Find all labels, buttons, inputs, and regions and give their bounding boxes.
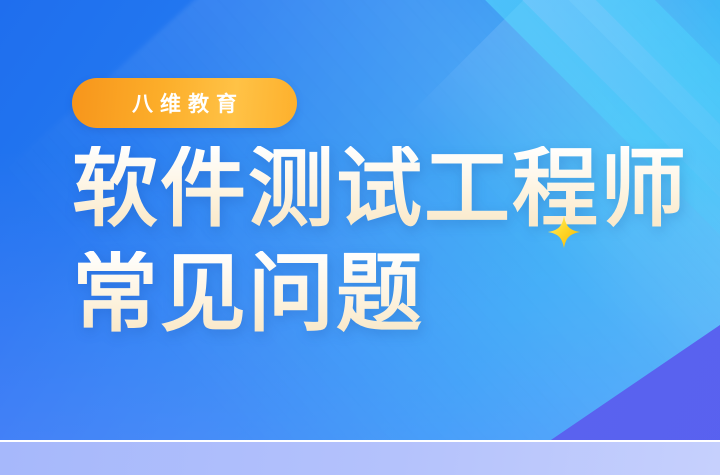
headline-line-2: 常见问题 — [72, 251, 688, 337]
headline-block: 软件测试工程师 常见问题 — [72, 146, 688, 337]
footer-strip — [0, 442, 720, 475]
footer-divider — [0, 440, 720, 442]
sparkle-star-icon — [547, 215, 581, 249]
promo-banner: 八维教育 软件测试工程师 常见问题 — [0, 0, 720, 475]
brand-badge-label: 八维教育 — [125, 88, 244, 118]
purple-triangle-shape — [548, 325, 720, 442]
headline-line-1: 软件测试工程师 — [72, 146, 688, 232]
purple-triangle-shade — [548, 325, 720, 442]
brand-badge: 八维教育 — [72, 78, 297, 128]
